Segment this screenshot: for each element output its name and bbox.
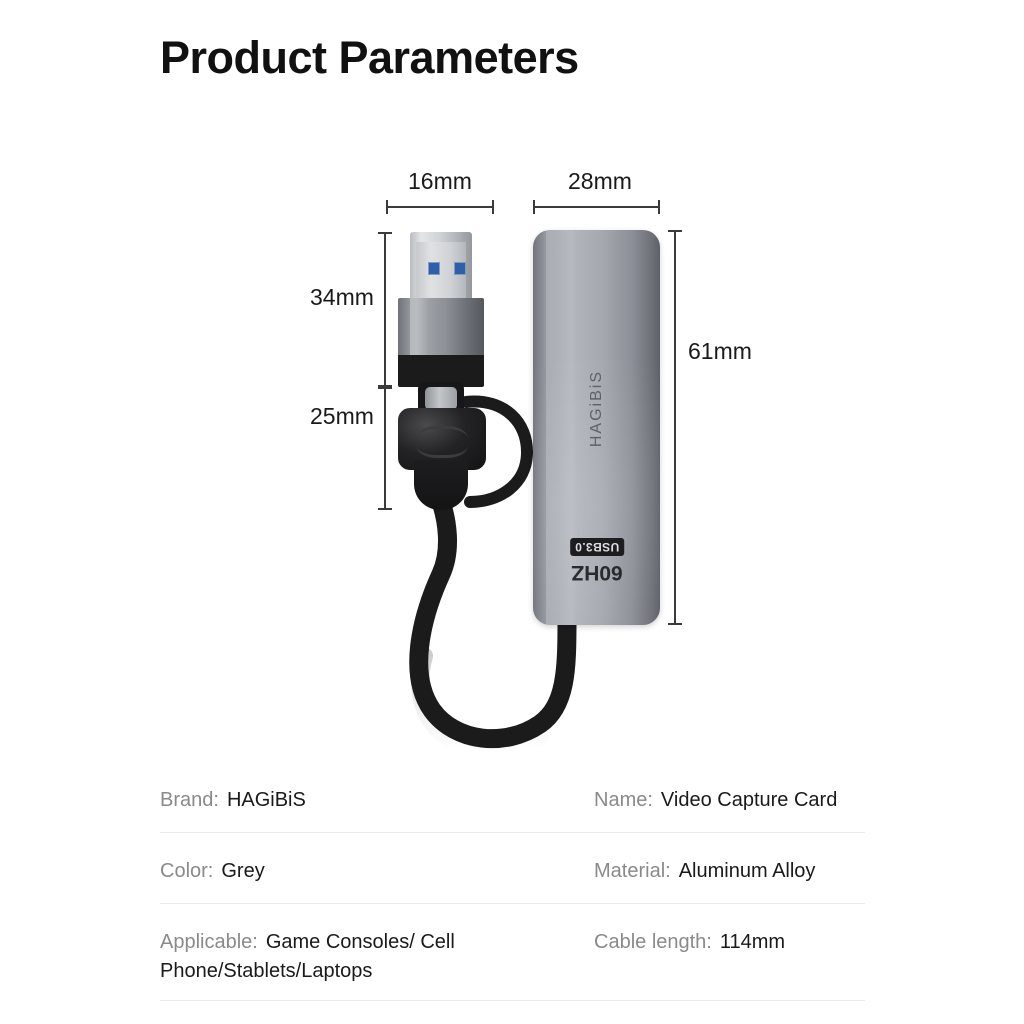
spec-cell-applicable: Applicable:Game Consoles/ Cell Phone/Sta… <box>160 904 594 1000</box>
dimension-bar <box>674 230 676 625</box>
dimension-line-height-card <box>668 230 682 625</box>
dimension-cap-top <box>668 230 682 232</box>
usb-contact-pad <box>454 262 466 275</box>
dimension-bar <box>384 232 386 387</box>
brand-print: HAGiBiS <box>588 370 606 447</box>
spec-value: Grey <box>221 860 264 882</box>
dimension-label-28mm: 28mm <box>568 168 632 195</box>
cable-reflection <box>420 656 540 751</box>
refresh-rate-print: 60HZ <box>571 560 622 584</box>
usb-version-badge: USB3.0 <box>569 538 623 556</box>
dimension-bar <box>386 206 494 208</box>
spec-key: Name: <box>594 789 653 811</box>
cable <box>0 150 1024 760</box>
table-row: Applicable:Game Consoles/ Cell Phone/Sta… <box>160 904 865 1001</box>
spec-key: Material: <box>594 860 671 882</box>
spec-key: Color: <box>160 860 213 882</box>
dimension-cap-bottom <box>668 623 682 625</box>
capture-card-body: HAGiBiS USB3.0 60HZ <box>533 230 660 625</box>
dimension-line-height-usb-c <box>378 387 392 510</box>
spec-value: Aluminum Alloy <box>679 860 816 882</box>
usb-c-neck <box>414 460 468 510</box>
dimension-line-width-card <box>533 200 660 214</box>
spec-cell-name: Name:Video Capture Card <box>594 762 865 829</box>
dimension-label-16mm: 16mm <box>408 168 472 195</box>
dimension-label-34mm: 34mm <box>310 284 374 311</box>
spec-cell-material: Material:Aluminum Alloy <box>594 833 865 900</box>
spec-key: Brand: <box>160 789 219 811</box>
dimension-label-25mm: 25mm <box>310 403 374 430</box>
product-illustration: 16mm 28mm 34mm 25mm 61mm <box>0 150 1024 760</box>
dimension-cap-right <box>658 200 660 214</box>
page-title: Product Parameters <box>160 32 579 84</box>
spec-value: Video Capture Card <box>661 789 837 811</box>
dimension-bar <box>384 387 386 510</box>
dimension-cap-top <box>378 232 392 234</box>
table-row: Color:Grey Material:Aluminum Alloy <box>160 833 865 904</box>
spec-key: Applicable: <box>160 931 258 953</box>
dimension-label-61mm: 61mm <box>688 338 752 365</box>
dimension-line-height-usb-a <box>378 232 392 387</box>
spec-value: HAGiBiS <box>227 789 306 811</box>
spec-table: Brand:HAGiBiS Name:Video Capture Card Co… <box>160 762 865 1001</box>
usb-a-inner <box>416 242 466 300</box>
usb-a-connector <box>410 232 472 300</box>
spec-cell-cable-length: Cable length:114mm <box>594 904 865 971</box>
table-row: Brand:HAGiBiS Name:Video Capture Card <box>160 762 865 833</box>
usb-c-contact-pad <box>425 387 457 410</box>
spec-key: Cable length: <box>594 931 712 953</box>
dimension-cap-right <box>492 200 494 214</box>
dimension-bar <box>533 206 660 208</box>
spec-value: 114mm <box>720 931 785 953</box>
spec-cell-brand: Brand:HAGiBiS <box>160 762 594 829</box>
usb-contact-pad <box>428 262 440 275</box>
dimension-cap-left <box>386 200 388 214</box>
spec-cell-color: Color:Grey <box>160 833 594 900</box>
dimension-cap-left <box>533 200 535 214</box>
dimension-cap-top <box>378 387 392 389</box>
dimension-line-width-usb <box>386 200 494 214</box>
usb-c-grip <box>416 426 468 458</box>
dimension-cap-bottom <box>378 508 392 510</box>
